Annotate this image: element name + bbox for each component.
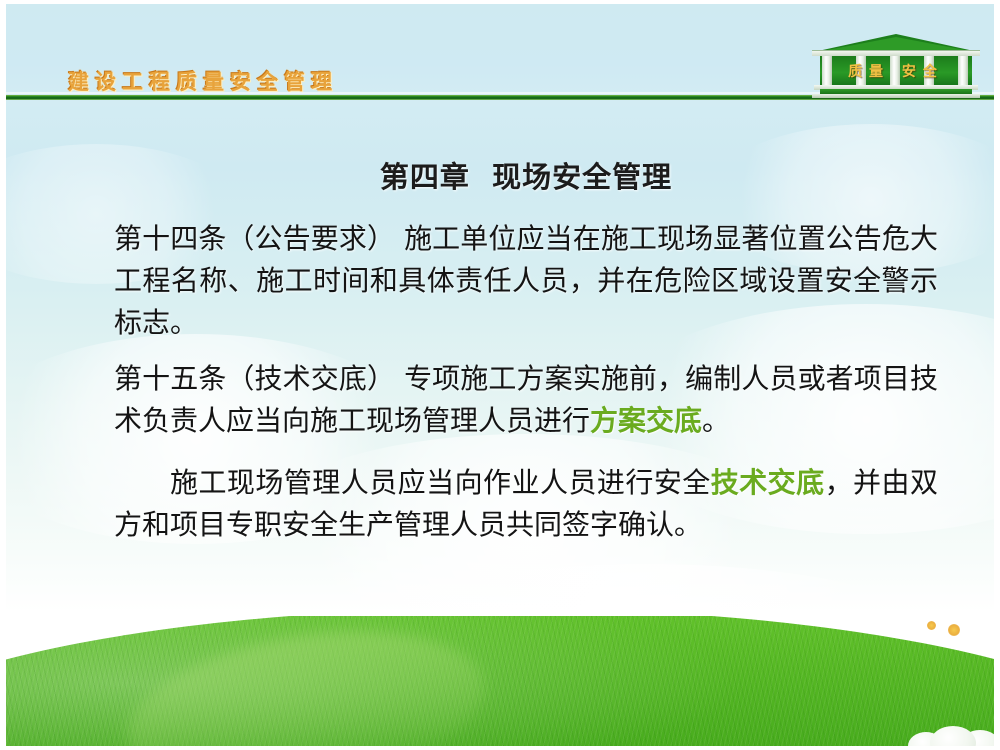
logo-text: 质量 安全 xyxy=(820,61,972,81)
flower-icon xyxy=(927,621,936,630)
header-title: 建设工程质量安全管理 xyxy=(68,66,338,96)
grass-texture xyxy=(6,616,994,746)
slide-content: 第四章 现场安全管理 第十四条（公告要求） 施工单位应当在施工现场显著位置公告危… xyxy=(6,154,994,560)
paragraph-text: 施工现场管理人员应当向作业人员进行安全 xyxy=(170,466,711,499)
cloud-decoration xyxy=(336,564,956,724)
pillar-temple-logo: 质量 安全 xyxy=(812,34,980,98)
bush-icon xyxy=(908,732,944,746)
paragraph-list: 第十四条（公告要求） 施工单位应当在施工现场显著位置公告危大工程名称、施工时间和… xyxy=(114,218,938,546)
bush-icon xyxy=(930,726,976,746)
grass-path xyxy=(116,616,495,746)
page-title: 第四章 现场安全管理 xyxy=(114,154,938,196)
bush-icon xyxy=(960,730,994,746)
temple-base-bottom-icon xyxy=(812,94,980,98)
paragraph-article-15: 第十五条（技术交底） 专项施工方案实施前，编制人员或者项目技术负责人应当向施工现… xyxy=(114,358,938,442)
paragraph-text: 。 xyxy=(702,404,730,437)
paragraph-text: 第十四条（公告要求） 施工单位应当在施工现场显著位置公告危大工程名称、施工时间和… xyxy=(114,222,938,339)
highlighted-term: 技术交底 xyxy=(711,466,825,499)
flower-icon xyxy=(948,624,960,636)
paragraph-article-15-para2: 施工现场管理人员应当向作业人员进行安全技术交底，并由双方和项目专职安全生产管理人… xyxy=(114,462,938,546)
grass-field xyxy=(6,616,994,746)
grass-footer xyxy=(6,616,994,746)
temple-roof-inner-icon xyxy=(822,37,970,51)
paragraph-text: 第十五条（技术交底） 专项施工方案实施前，编制人员或者项目技术负责人应当向施工现… xyxy=(114,362,938,437)
highlighted-term: 方案交底 xyxy=(590,404,702,437)
presentation-slide: 建设工程质量安全管理 质量 安全 第四章 现场安全管理 第十四条（公告要求） 施… xyxy=(0,0,1000,750)
slide-canvas: 建设工程质量安全管理 质量 安全 第四章 现场安全管理 第十四条（公告要求） 施… xyxy=(6,4,994,746)
paragraph-article-14: 第十四条（公告要求） 施工单位应当在施工现场显著位置公告危大工程名称、施工时间和… xyxy=(114,218,938,344)
